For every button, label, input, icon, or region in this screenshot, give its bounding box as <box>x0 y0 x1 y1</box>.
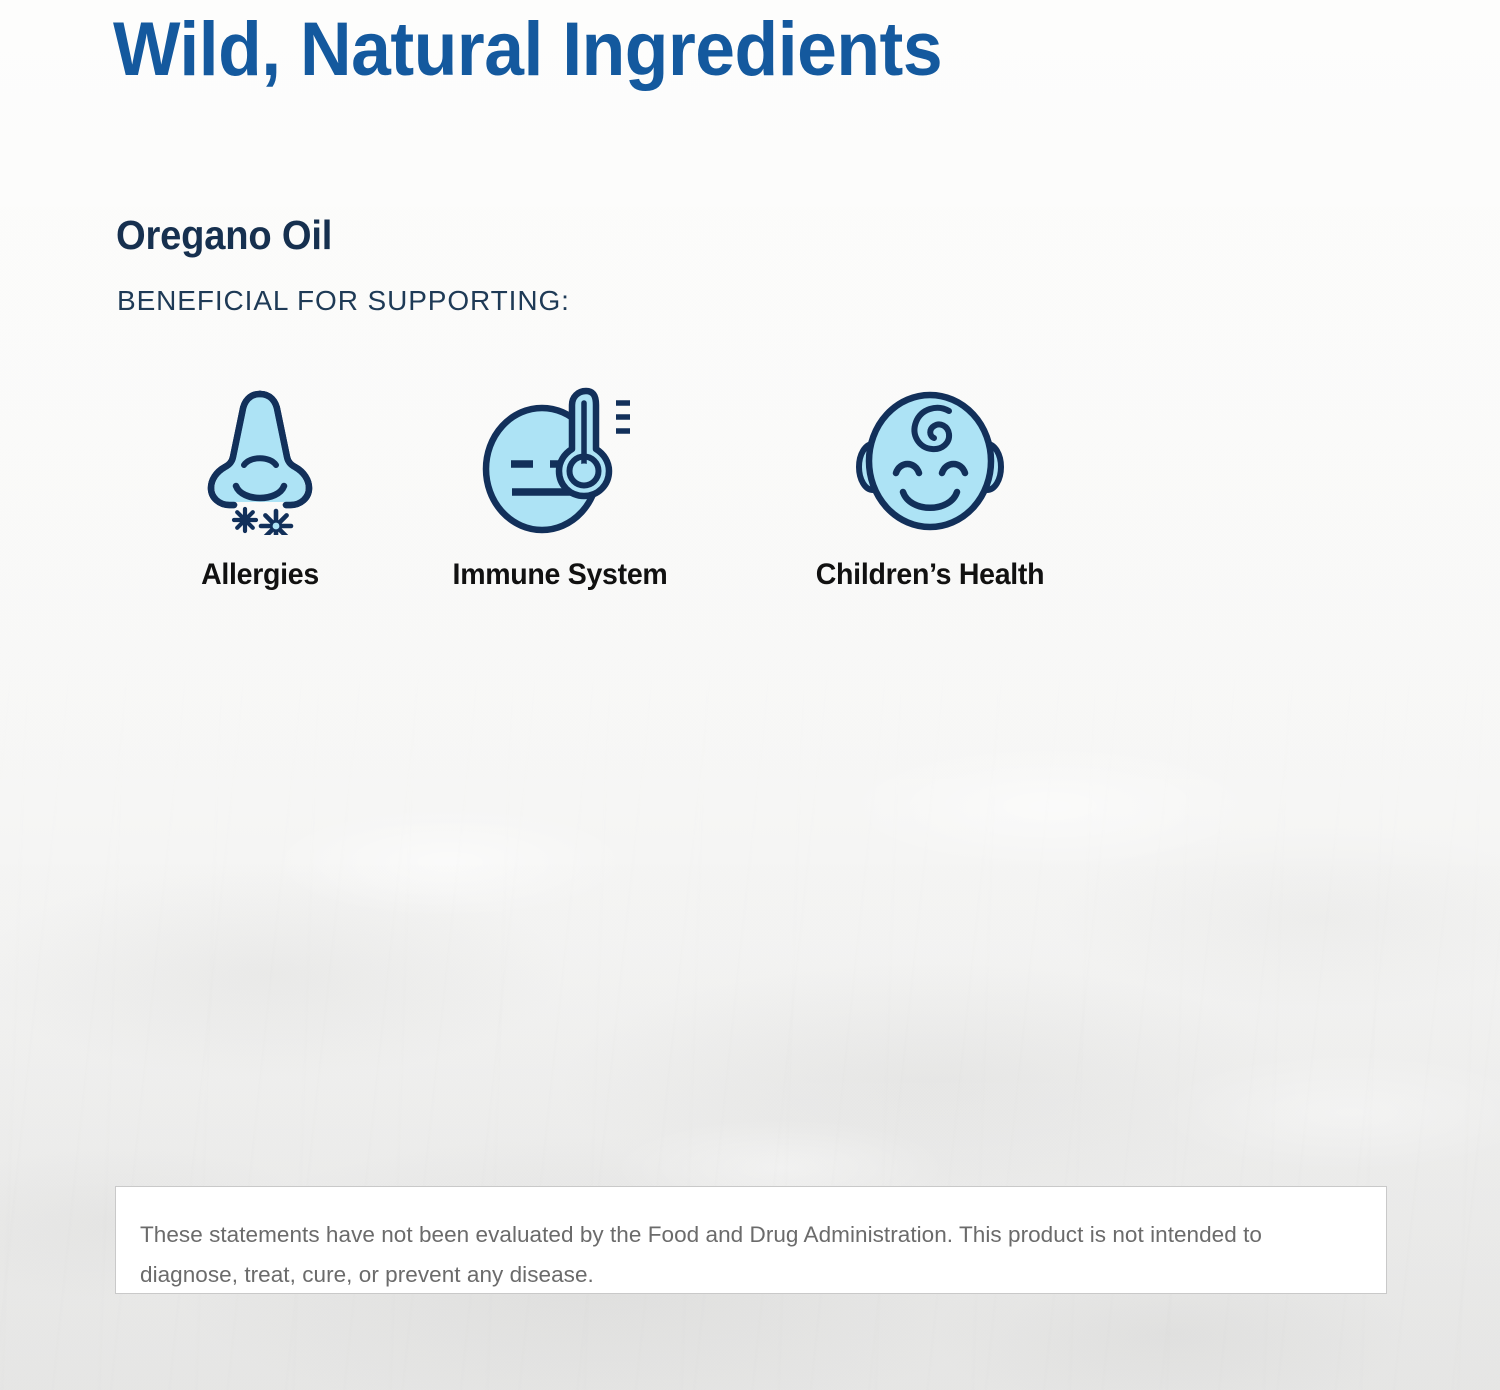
nose-allergens-icon <box>200 380 320 535</box>
sick-face-thermometer-icon <box>478 375 643 535</box>
background-base <box>0 0 1500 1390</box>
benefit-label-childrens-health: Children’s Health <box>778 557 1082 593</box>
fda-disclaimer-text: These statements have not been evaluated… <box>140 1215 1362 1295</box>
benefit-label-allergies: Allergies <box>156 557 365 593</box>
background-streaks <box>0 0 1500 1390</box>
page-title: Wild, Natural Ingredients <box>113 2 942 98</box>
fda-disclaimer-box: These statements have not been evaluated… <box>115 1186 1387 1294</box>
background-mottle-light <box>0 0 1500 1390</box>
benefit-icon-wrap <box>420 375 700 535</box>
ingredient-panel: Wild, Natural Ingredients Oregano Oil BE… <box>0 0 1500 1390</box>
benefit-item-immune-system: Immune System <box>420 375 700 600</box>
benefit-item-allergies: Allergies <box>150 375 370 600</box>
benefits-row: Allergies <box>150 375 1110 600</box>
benefit-item-childrens-health: Children’s Health <box>770 375 1090 600</box>
background-grain <box>0 0 1500 1390</box>
beneficial-for-supporting-label: BENEFICIAL FOR SUPPORTING: <box>117 284 570 318</box>
allergen-particle-small <box>234 509 256 531</box>
benefit-icon-wrap <box>770 375 1090 535</box>
baby-face-icon <box>845 385 1015 535</box>
ingredient-name-heading: Oregano Oil <box>116 210 332 260</box>
background-mottle-dark <box>0 0 1500 1390</box>
allergen-particle-large <box>261 511 291 535</box>
benefit-label-immune-system: Immune System <box>427 557 693 593</box>
benefit-icon-wrap <box>150 375 370 535</box>
